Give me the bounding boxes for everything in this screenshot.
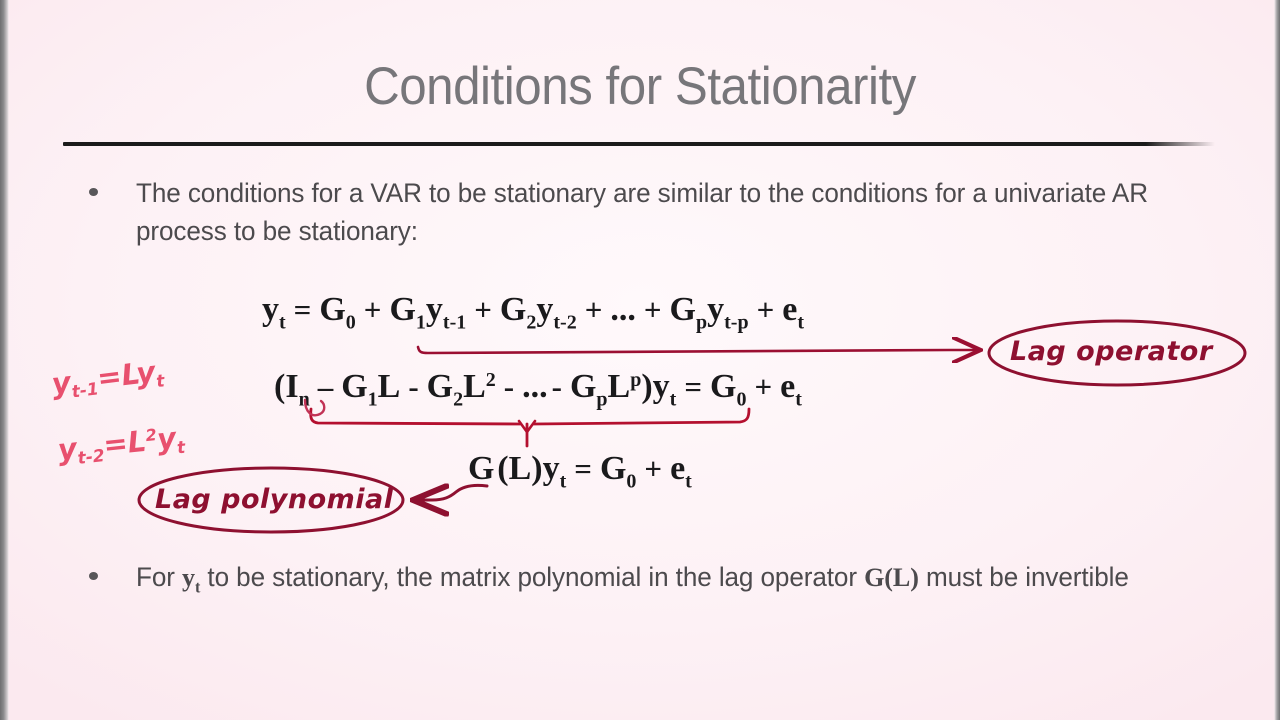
eq1-plus-4: +: [640, 292, 666, 327]
bullet-text: The conditions for a VAR to be stationar…: [136, 174, 1163, 250]
eq1-gp: Gp: [670, 291, 708, 328]
slide-canvas: Conditions for Stationarity The conditio…: [0, 0, 1280, 720]
bullet2-lead: For: [136, 562, 182, 592]
eq1-ylag1: yt-1: [426, 291, 466, 328]
eq2-open-paren: (: [274, 368, 285, 405]
eq1-g0: G0: [319, 291, 355, 328]
hand2-lhs: y: [56, 431, 78, 467]
eq1-g2: G2: [500, 291, 536, 328]
eq2-y: yt: [653, 368, 677, 405]
eq3-g0: G0: [600, 450, 636, 487]
lag-operator-label: Lag operator: [1010, 336, 1213, 367]
bullet2-tail: must be invertible: [919, 562, 1129, 592]
lag-polynomial-label: Lag polynomial: [155, 484, 394, 515]
eq2-minus-4: -: [548, 369, 566, 404]
eq2-L2: L2: [463, 368, 496, 405]
right-edge-strip: [1274, 0, 1280, 720]
equation-lag-polynomial: (In – G1L - G2L2 - ...- GpLp)yt = G0 + e…: [274, 368, 802, 411]
eq2-g1: G1: [341, 368, 377, 405]
eq1-ellipsis: ...: [610, 291, 636, 328]
page-title: Conditions for Stationarity: [45, 56, 1235, 117]
bullet2-mid: to be stationary, the matrix polynomial …: [200, 562, 864, 592]
bullet-item-invertible: For yt to be stationary, the matrix poly…: [89, 558, 1199, 606]
hand1-lhs-sub: t-1: [71, 379, 100, 402]
eq1-g1: G1: [389, 291, 425, 328]
eq2-g2: G2: [427, 368, 463, 405]
equation-var-levels: yt = G0 + G1yt-1 + G2yt-2 + ... + Gpyt-p…: [262, 291, 804, 334]
bullet-dot-icon: [89, 188, 98, 196]
eq1-plus-5: +: [753, 292, 779, 327]
eq1-e: et: [782, 291, 804, 328]
eq2-equals: =: [680, 369, 706, 404]
bullet2-symbol-gl: G(L): [864, 562, 919, 592]
bullet-item-conditions: The conditions for a VAR to be stationar…: [89, 174, 1179, 250]
eq3-plus: +: [640, 451, 666, 486]
bullet2-symbol-y: yt: [182, 562, 200, 592]
bullet-text: For yt to be stationary, the matrix poly…: [136, 558, 1183, 606]
eq2-e: et: [780, 368, 802, 405]
eq2-minus-3: -: [500, 369, 518, 404]
eq3-GL: G (L): [468, 450, 543, 487]
eq2-Lp: Lp: [608, 368, 642, 405]
hand2-lhs-sub: t-2: [77, 446, 106, 469]
left-edge-strip: [0, 0, 9, 720]
eq1-ylag2: yt-2: [536, 291, 576, 328]
eq1-plus-3: +: [581, 292, 607, 327]
eq1-equals: =: [290, 292, 316, 327]
eq2-identity: In: [285, 368, 309, 405]
hand2-rhs-y: y: [155, 421, 177, 457]
bullet-dot-icon: [89, 572, 98, 580]
hand1-lhs: y: [50, 365, 73, 401]
eq2-minus-1: –: [314, 369, 338, 404]
eq2-minus-2: -: [404, 369, 422, 404]
eq1-plus-1: +: [360, 292, 386, 327]
eq2-close-paren: ): [641, 368, 652, 405]
eq2-plus: +: [750, 369, 776, 404]
eq2-ellipsis: ...: [522, 368, 548, 405]
eq2-gp: Gp: [570, 368, 608, 405]
equation-compact-form: G (L)yt = G0 + et: [468, 450, 692, 493]
hand1-rhs-y: y: [134, 354, 157, 390]
eq1-ylagp: yt-p: [707, 291, 748, 328]
eq3-y: yt: [543, 450, 567, 487]
title-divider: [63, 142, 1215, 146]
eq2-L1: L: [378, 368, 401, 405]
eq3-e: et: [670, 450, 692, 487]
eq2-g0: G0: [710, 368, 746, 405]
eq1-plus-2: +: [470, 292, 496, 327]
eq3-equals: =: [570, 451, 596, 486]
eq1-y: yt: [262, 291, 286, 328]
